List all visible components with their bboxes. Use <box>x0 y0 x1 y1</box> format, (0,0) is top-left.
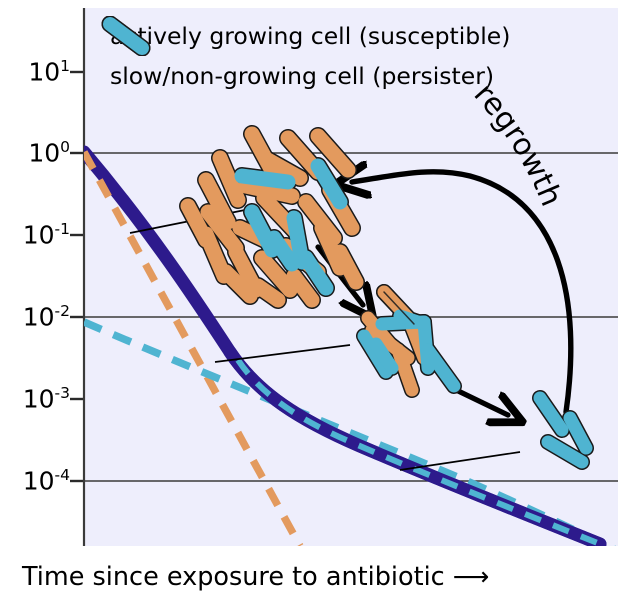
legend-item-susceptible: actively growing cell (susceptible) <box>100 16 510 56</box>
y-axis-tick-labels: 101 100 10-1 10-2 10-3 10-4 <box>0 0 70 608</box>
rod-cell-icon <box>100 16 152 56</box>
ytick-label-1e-3: 10-3 <box>23 385 70 414</box>
regrowth-label-text: regrowth <box>467 77 569 211</box>
ytick-label-1e1: 101 <box>28 58 70 87</box>
ytick-label-1e-2: 10-2 <box>23 303 70 332</box>
cell-cluster-medium <box>364 292 454 390</box>
legend-label-susceptible: actively growing cell (susceptible) <box>110 22 510 50</box>
legend-item-persister: slow/non-growing cell (persister) <box>100 56 510 96</box>
x-axis-label: Time since exposure to antibiotic ⟶ <box>22 562 489 592</box>
legend: actively growing cell (susceptible) slow… <box>100 16 510 96</box>
persistence-killing-curve-figure: regrowth <box>0 0 618 608</box>
regrowth-label: regrowth <box>467 77 569 211</box>
cell-cluster-small <box>540 398 586 462</box>
legend-label-persister: slow/non-growing cell (persister) <box>110 62 494 90</box>
y-axis-ticks <box>70 72 84 481</box>
cell-cluster-large <box>188 134 356 300</box>
ytick-label-1e0: 100 <box>28 139 70 168</box>
decay-arrow-2 <box>452 388 508 415</box>
ytick-label-1e-1: 10-1 <box>23 221 70 250</box>
ytick-label-1e-4: 10-4 <box>23 467 70 496</box>
